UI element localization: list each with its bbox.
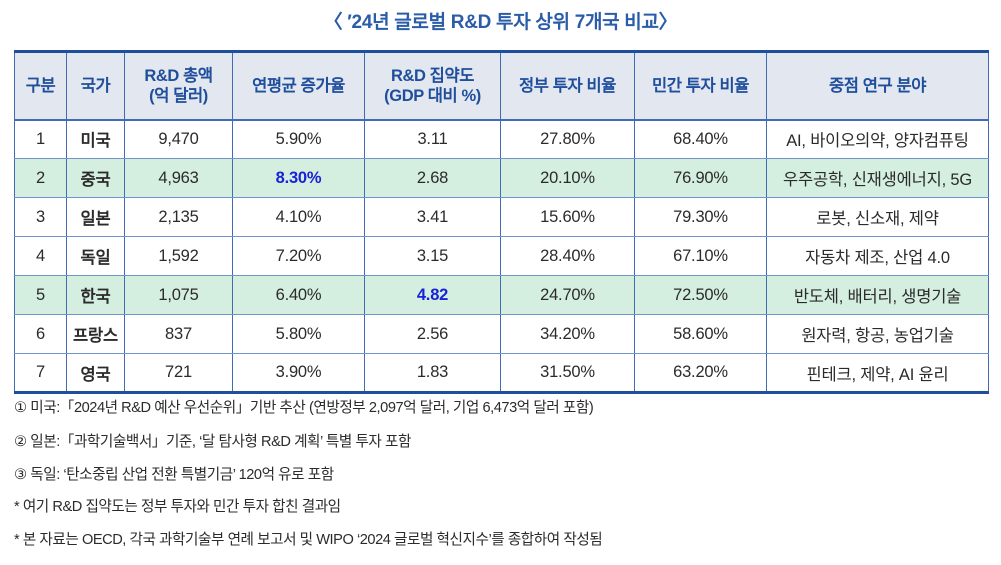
column-header-gov-ratio: 정부 투자 비율	[501, 52, 635, 120]
column-header-index: 구분	[15, 52, 67, 120]
column-header-total: R&D 총액 (억 달러)	[125, 52, 233, 120]
cell-country: 일본	[67, 198, 125, 237]
cell-growth: 7.20%	[233, 237, 365, 276]
cell-fields: 로봇, 신소재, 제약	[767, 198, 989, 237]
column-header-country-line1: 국가	[81, 77, 111, 95]
cell-gov-ratio: 27.80%	[501, 120, 635, 159]
cell-country: 프랑스	[67, 315, 125, 354]
cell-private-ratio: 58.60%	[635, 315, 767, 354]
table-container: 구분 국가 R&D 총액 (억 달러) 연평균 증가율 R&D 집약도 (GDP	[14, 50, 988, 394]
footnote-1: ① 미국:「2024년 R&D 예산 우선순위」기반 추산 (연방정부 2,09…	[14, 401, 994, 416]
cell-private-ratio: 68.40%	[635, 120, 767, 159]
table-header: 구분 국가 R&D 총액 (억 달러) 연평균 증가율 R&D 집약도 (GDP	[15, 52, 989, 120]
cell-total: 2,135	[125, 198, 233, 237]
report-page: 〈 ′24년 글로벌 R&D 투자 상위 7개국 비교〉 구분 국가 R&D 총…	[0, 0, 1001, 565]
cell-gov-ratio: 15.60%	[501, 198, 635, 237]
cell-private-ratio: 67.10%	[635, 237, 767, 276]
cell-index: 6	[15, 315, 67, 354]
cell-gov-ratio: 28.40%	[501, 237, 635, 276]
column-header-growth: 연평균 증가율	[233, 52, 365, 120]
cell-total: 4,963	[125, 159, 233, 198]
column-header-fields-line1: 중점 연구 분야	[829, 77, 926, 95]
column-header-index-line1: 구분	[26, 77, 56, 95]
cell-total: 1,592	[125, 237, 233, 276]
cell-index: 7	[15, 354, 67, 393]
column-header-gov-ratio-line1: 정부 투자 비율	[519, 77, 616, 95]
cell-intensity: 3.41	[365, 198, 501, 237]
cell-growth: 5.90%	[233, 120, 365, 159]
table-row: 3일본2,1354.10%3.4115.60%79.30%로봇, 신소재, 제약	[15, 198, 989, 237]
column-header-intensity-line1: R&D 집약도	[391, 67, 474, 85]
table-row: 5한국1,0756.40%4.8224.70%72.50%반도체, 배터리, 생…	[15, 276, 989, 315]
column-header-intensity: R&D 집약도 (GDP 대비 %)	[365, 52, 501, 120]
cell-intensity: 3.11	[365, 120, 501, 159]
cell-country: 영국	[67, 354, 125, 393]
rd-comparison-table: 구분 국가 R&D 총액 (억 달러) 연평균 증가율 R&D 집약도 (GDP	[14, 50, 989, 394]
column-header-growth-line1: 연평균 증가율	[252, 77, 345, 95]
cell-total: 837	[125, 315, 233, 354]
cell-intensity: 3.15	[365, 237, 501, 276]
cell-total: 1,075	[125, 276, 233, 315]
cell-index: 5	[15, 276, 67, 315]
cell-country: 미국	[67, 120, 125, 159]
cell-index: 3	[15, 198, 67, 237]
column-header-fields: 중점 연구 분야	[767, 52, 989, 120]
cell-intensity: 2.68	[365, 159, 501, 198]
cell-growth: 5.80%	[233, 315, 365, 354]
cell-fields: 원자력, 항공, 농업기술	[767, 315, 989, 354]
footnote-5: * 본 자료는 OECD, 각국 과학기술부 연례 보고서 및 WIPO ‘20…	[14, 533, 994, 548]
cell-fields: AI, 바이오의약, 양자컴퓨팅	[767, 120, 989, 159]
footnotes: ① 미국:「2024년 R&D 예산 우선순위」기반 추산 (연방정부 2,09…	[14, 401, 994, 548]
cell-growth: 8.30%	[233, 159, 365, 198]
cell-gov-ratio: 31.50%	[501, 354, 635, 393]
cell-country: 독일	[67, 237, 125, 276]
table-row: 1미국9,4705.90%3.1127.80%68.40%AI, 바이오의약, …	[15, 120, 989, 159]
column-header-private-ratio: 민간 투자 비율	[635, 52, 767, 120]
cell-private-ratio: 63.20%	[635, 354, 767, 393]
page-title: 〈 ′24년 글로벌 R&D 투자 상위 7개국 비교〉	[324, 7, 678, 34]
cell-private-ratio: 72.50%	[635, 276, 767, 315]
cell-growth-emphasis: 8.30%	[276, 169, 322, 187]
column-header-total-line2: (억 달러)	[129, 86, 228, 106]
cell-private-ratio: 79.30%	[635, 198, 767, 237]
table-header-row: 구분 국가 R&D 총액 (억 달러) 연평균 증가율 R&D 집약도 (GDP	[15, 52, 989, 120]
cell-fields: 자동차 제조, 산업 4.0	[767, 237, 989, 276]
cell-total: 721	[125, 354, 233, 393]
cell-total: 9,470	[125, 120, 233, 159]
cell-country: 한국	[67, 276, 125, 315]
footnote-4: * 여기 R&D 집약도는 정부 투자와 민간 투자 합친 결과임	[14, 500, 994, 515]
column-header-country: 국가	[67, 52, 125, 120]
footnote-3: ③ 독일: ‘탄소중립 산업 전환 특별기금’ 120억 유로 포함	[14, 468, 994, 483]
column-header-intensity-line2: (GDP 대비 %)	[369, 86, 496, 106]
cell-growth: 4.10%	[233, 198, 365, 237]
cell-intensity: 1.83	[365, 354, 501, 393]
table-row: 6프랑스8375.80%2.5634.20%58.60%원자력, 항공, 농업기…	[15, 315, 989, 354]
cell-gov-ratio: 24.70%	[501, 276, 635, 315]
cell-growth: 3.90%	[233, 354, 365, 393]
cell-fields: 우주공학, 신재생에너지, 5G	[767, 159, 989, 198]
cell-private-ratio: 76.90%	[635, 159, 767, 198]
footnote-2: ② 일본:「과학기술백서」기준, ‘달 탐사형 R&D 계획’ 특별 투자 포함	[14, 435, 994, 450]
cell-index: 2	[15, 159, 67, 198]
cell-index: 4	[15, 237, 67, 276]
cell-fields: 반도체, 배터리, 생명기술	[767, 276, 989, 315]
column-header-private-ratio-line1: 민간 투자 비율	[652, 77, 749, 95]
cell-intensity: 2.56	[365, 315, 501, 354]
cell-country: 중국	[67, 159, 125, 198]
cell-intensity: 4.82	[365, 276, 501, 315]
cell-gov-ratio: 20.10%	[501, 159, 635, 198]
table-row: 7영국7213.90%1.8331.50%63.20%핀테크, 제약, AI 윤…	[15, 354, 989, 393]
title-container: 〈 ′24년 글로벌 R&D 투자 상위 7개국 비교〉	[0, 0, 1001, 36]
cell-growth: 6.40%	[233, 276, 365, 315]
table-row: 2중국4,9638.30%2.6820.10%76.90%우주공학, 신재생에너…	[15, 159, 989, 198]
table-row: 4독일1,5927.20%3.1528.40%67.10%자동차 제조, 산업 …	[15, 237, 989, 276]
cell-fields: 핀테크, 제약, AI 윤리	[767, 354, 989, 393]
cell-index: 1	[15, 120, 67, 159]
cell-intensity-emphasis: 4.82	[417, 286, 448, 304]
column-header-total-line1: R&D 총액	[144, 67, 212, 85]
table-body: 1미국9,4705.90%3.1127.80%68.40%AI, 바이오의약, …	[15, 120, 989, 393]
cell-gov-ratio: 34.20%	[501, 315, 635, 354]
